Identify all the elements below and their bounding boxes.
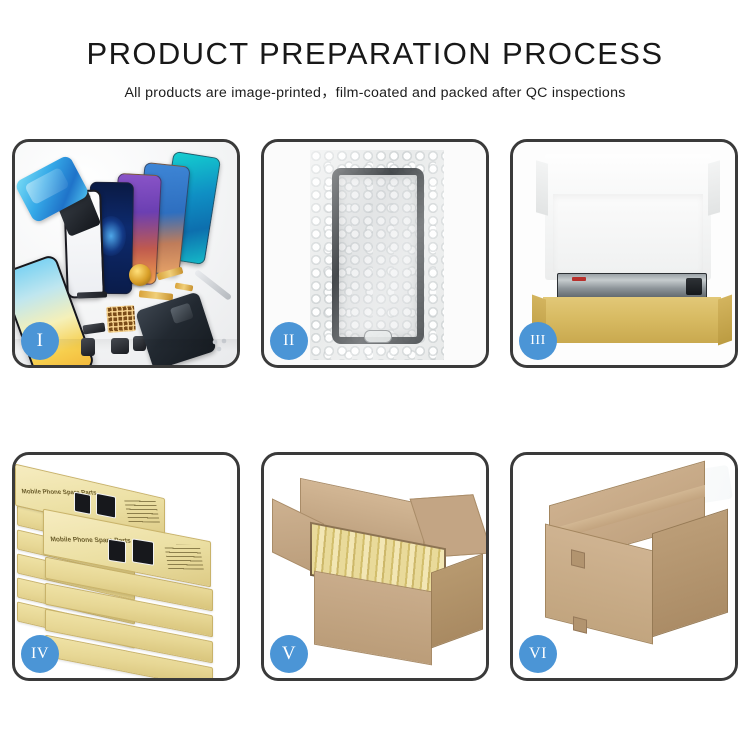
chip-grid-array: [106, 305, 136, 333]
phone-glass-screen: [332, 168, 424, 344]
step-badge-2: II: [270, 322, 308, 360]
box-spec-lines: [124, 499, 160, 522]
kraft-box-front: [543, 297, 721, 343]
packed-screen-in-box: [557, 273, 707, 299]
flex-cable-strip-1: [77, 291, 107, 298]
gold-coil-part: [129, 264, 151, 286]
bubble-wrap-sheet: [310, 150, 444, 360]
box-phone-thumbnail: [74, 492, 91, 515]
step-badge-3: III: [519, 322, 557, 360]
carton-seam-tab-top: [571, 549, 585, 568]
box-spec-lines: [164, 545, 204, 570]
step-panel-3[interactable]: III: [510, 139, 738, 368]
step-panel-6[interactable]: VI: [510, 452, 738, 681]
step-panel-5[interactable]: V: [261, 452, 489, 681]
page-subtitle: All products are image-printed，film-coat…: [0, 82, 750, 102]
step-badge-4: IV: [21, 635, 59, 673]
step-badge-5: V: [270, 635, 308, 673]
header: PRODUCT PREPARATION PROCESS All products…: [0, 36, 750, 102]
step-panel-2[interactable]: II: [261, 139, 489, 368]
step-badge-6: VI: [519, 635, 557, 673]
box-phone-thumbnail: [96, 493, 116, 519]
foam-insert: [553, 194, 703, 272]
step-panel-4[interactable]: Mobile Phone Spare Parts Mobile Phone Sp…: [12, 452, 240, 681]
process-steps-grid: I II III: [12, 139, 738, 681]
product-preparation-infographic: PRODUCT PREPARATION PROCESS All products…: [0, 0, 750, 750]
step-badge-1: I: [21, 322, 59, 360]
step-panel-1[interactable]: I: [12, 139, 240, 368]
box-phone-thumbnail: [132, 538, 154, 566]
page-title: PRODUCT PREPARATION PROCESS: [0, 36, 750, 72]
box-phone-thumbnail: [108, 539, 126, 564]
